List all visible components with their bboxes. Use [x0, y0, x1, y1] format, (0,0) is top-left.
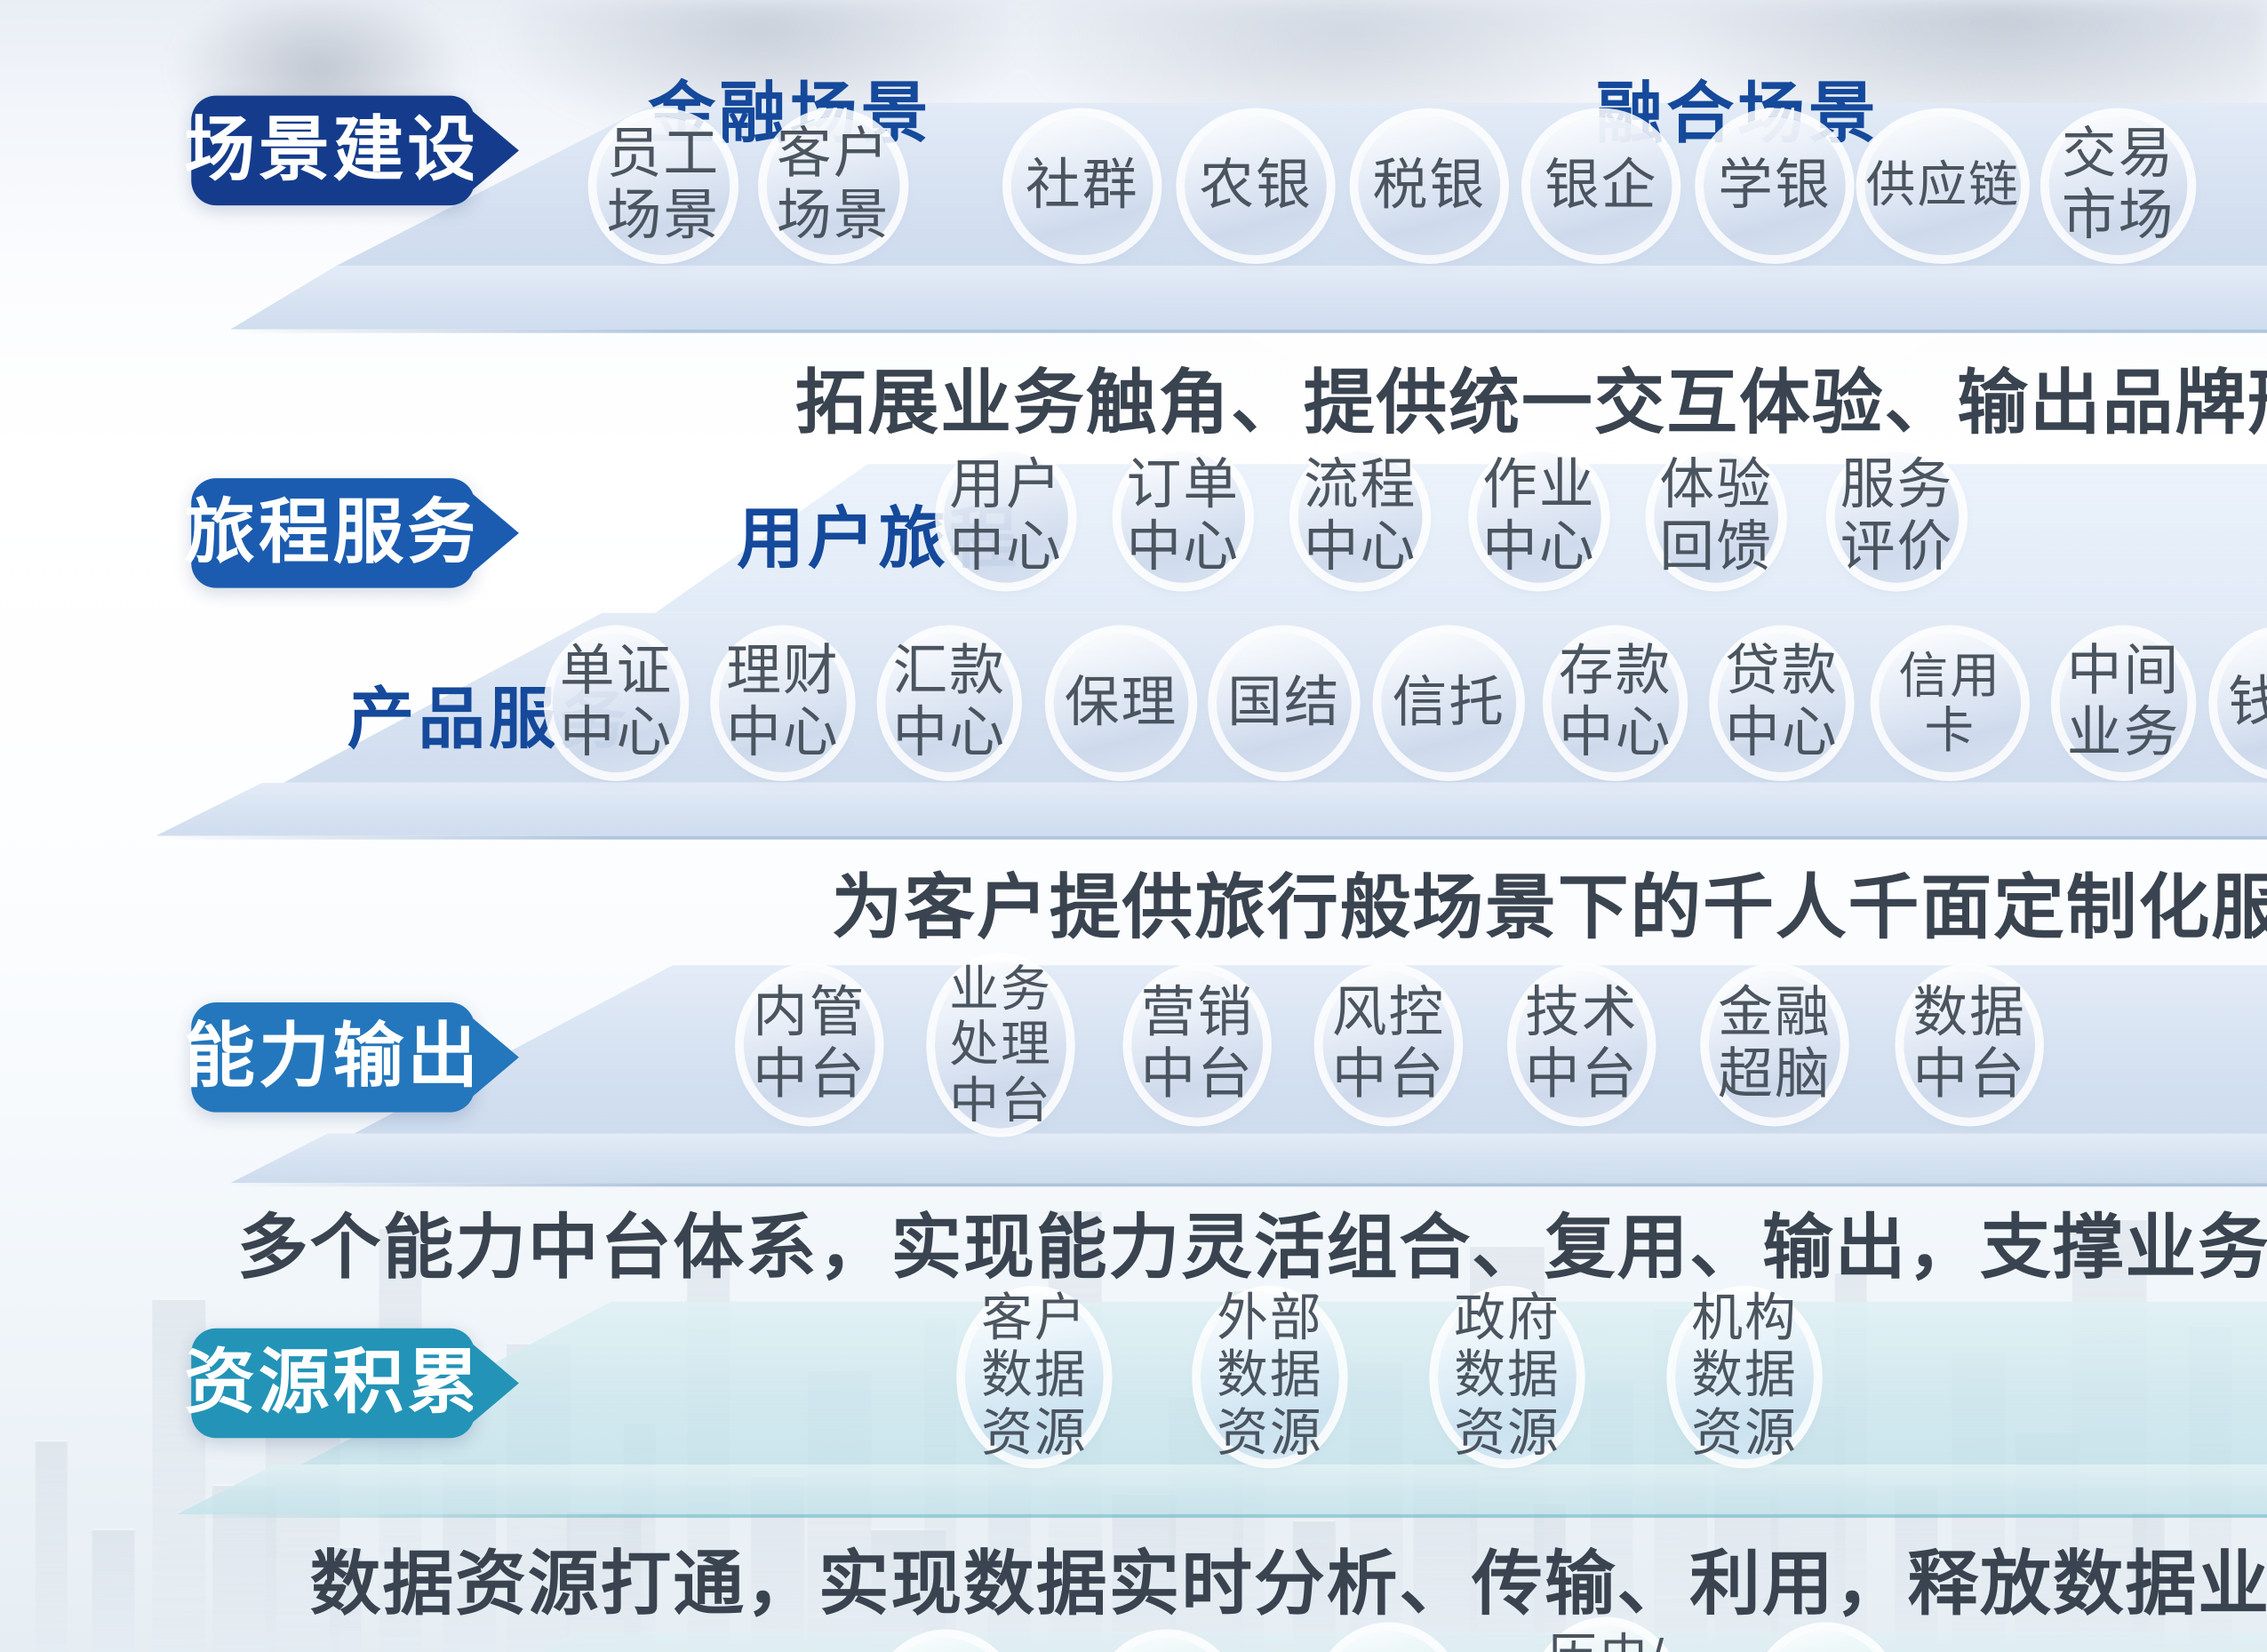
bubble-process-center[interactable]: 流程中心: [1298, 451, 1423, 582]
bubble-document-center[interactable]: 单证中心: [553, 634, 680, 771]
bubble-operation-center[interactable]: 作业中心: [1477, 451, 1601, 582]
band-layer-4-base: [177, 1464, 2267, 1514]
bubble-experience-feedback[interactable]: 体验回馈: [1654, 451, 1778, 582]
bubble-data-platform[interactable]: 数据中台: [1904, 972, 2034, 1117]
tier-badge-journey-service[interactable]: 旅程服务: [191, 478, 475, 588]
bubble-community[interactable]: 社群: [1011, 117, 1153, 255]
bubble-history-statistics-query[interactable]: 历史/统计查询: [1534, 1626, 1679, 1652]
bubble-intermediary-business[interactable]: 中间业务: [2060, 634, 2187, 771]
bubble-institution-data-resource[interactable]: 机构数据资源: [1675, 1295, 1813, 1459]
badge-arrow-icon: [473, 1345, 519, 1423]
bubble-service-rating[interactable]: 服务评价: [1835, 451, 1960, 582]
bubble-deposit-center[interactable]: 存款中心: [1552, 634, 1679, 771]
band-rule-2: [156, 836, 2267, 840]
band-rule-4: [177, 1514, 2267, 1518]
bubble-credit-card[interactable]: 信用卡: [1880, 634, 2021, 771]
band-layer-1: [230, 266, 2267, 330]
bubble-technology-platform[interactable]: 技术中台: [1516, 972, 1647, 1117]
bubble-risk-control-platform[interactable]: 风控中台: [1323, 972, 1454, 1117]
bubble-line-1: 员工场景: [607, 124, 721, 247]
bubble-supply-chain[interactable]: 供应链: [1865, 117, 2021, 255]
band-layer-2-base: [156, 783, 2267, 836]
band-rule-1: [230, 330, 2267, 333]
bubble-remittance-center[interactable]: 汇款中心: [885, 634, 1012, 771]
bubble-government-data-resource[interactable]: 政府数据资源: [1438, 1295, 1576, 1459]
caption-layer-2: 为客户提供旅行般场景下的千人千面定制化服务: [0, 850, 2267, 954]
bubble-trust[interactable]: 信托: [1382, 634, 1516, 771]
bubble-tax-bank[interactable]: 税银: [1359, 117, 1500, 255]
bubble-external-data-resource[interactable]: 外部数据资源: [1201, 1295, 1338, 1459]
bubble-school-bank[interactable]: 学银: [1704, 117, 1845, 255]
band-layer-3-base: [230, 1134, 2267, 1184]
bubble-internal-mgmt-platform[interactable]: 内管中台: [744, 972, 874, 1117]
tier-badge-scene-building[interactable]: 场景建设: [191, 96, 475, 206]
tier-badge-capability-output[interactable]: 能力输出: [191, 1002, 475, 1113]
tier-badge-label: 能力输出: [184, 1022, 482, 1093]
caption-layer-3: 多个能力中台体系，实现能力灵活组合、复用、输出，支撑业务敏态创新: [0, 1190, 2267, 1293]
bubble-trading-market[interactable]: 交易市场: [2049, 117, 2187, 255]
bubble-intl-settlement[interactable]: 国结: [1217, 634, 1351, 771]
bubble-customer-scene[interactable]: 客户场景: [767, 117, 899, 255]
bubble-order-center[interactable]: 订单中心: [1122, 451, 1246, 582]
tier-badge-resource-accumulation[interactable]: 资源积累: [191, 1329, 475, 1439]
badge-arrow-icon: [473, 112, 519, 190]
bubble-factoring[interactable]: 保理: [1054, 634, 1188, 771]
bubble-user-center[interactable]: 用户中心: [944, 451, 1068, 582]
caption-layer-4: 数据资源打通，实现数据实时分析、传输、利用，释放数据业务价值: [0, 1527, 2267, 1630]
bubble-loan-center[interactable]: 贷款中心: [1718, 634, 1845, 771]
caption-layer-1: 拓展业务触角、提供统一交互体验、输出品牌形象: [0, 346, 2267, 449]
band-layer-5: [266, 1633, 2267, 1652]
tier-badge-label: 资源积累: [184, 1348, 482, 1419]
badge-arrow-icon: [473, 494, 519, 572]
bubble-employee-scene[interactable]: 员工场景: [597, 117, 730, 255]
bubble-marketing-platform[interactable]: 营销中台: [1132, 972, 1263, 1117]
badge-arrow-icon: [473, 1018, 519, 1097]
tier-badge-label: 场景建设: [184, 116, 482, 187]
band-rule-3: [230, 1183, 2267, 1186]
tier-badge-label: 旅程服务: [184, 498, 482, 569]
bubble-customer-data-resource[interactable]: 客户数据资源: [965, 1295, 1103, 1459]
architecture-diagram: 场景建设 金融场景 融合场景 员工场景 客户场景 社群 农银 税银 银企 学银 …: [0, 0, 2267, 1652]
bubble-agri-bank[interactable]: 农银: [1185, 117, 1326, 255]
bubble-wealth-center[interactable]: 理财中心: [719, 634, 846, 771]
bubble-financial-brain[interactable]: 金融超脑: [1709, 972, 1840, 1117]
bubble-bank-enterprise[interactable]: 银企: [1530, 117, 1672, 255]
bubble-business-processing-platform[interactable]: 业务处理中台: [935, 962, 1066, 1128]
